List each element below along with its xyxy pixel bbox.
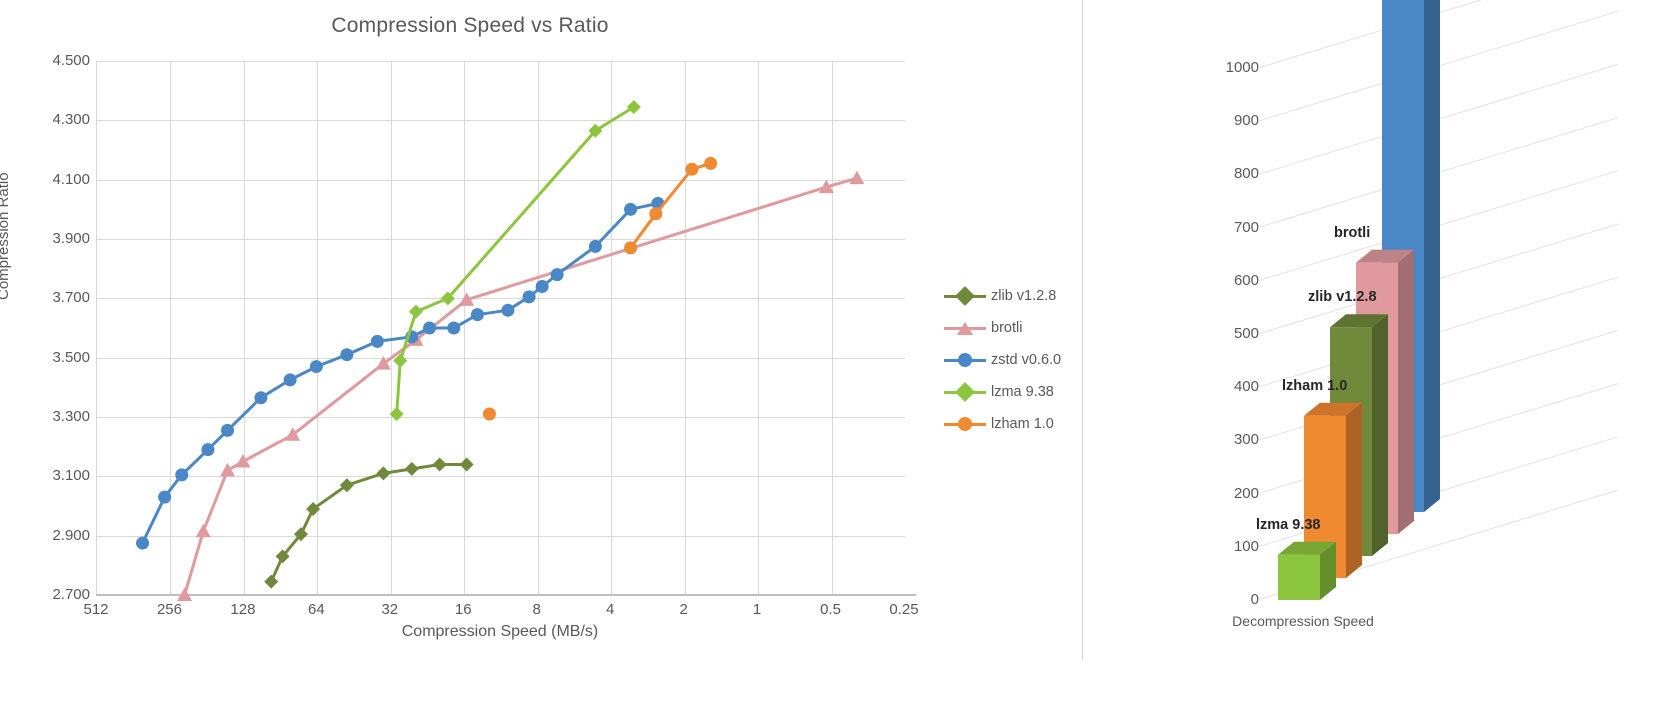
legend-item-label: lzham 1.0 [986,416,1054,432]
data-point-marker [310,360,323,373]
data-point-marker [433,457,447,471]
bar-lzma-9-38[interactable] [1278,542,1336,600]
data-point-marker [220,463,235,477]
x-tick-label: 4 [580,601,640,618]
x-tick-label: 0.5 [801,601,861,618]
data-point-marker [201,443,214,456]
y-tick-label: 3.900 [38,230,90,247]
legend-marker-icon [944,320,986,336]
bar-side-face [1398,250,1414,534]
x-tick-label: 32 [360,601,420,618]
x-axis-title: Compression Speed (MB/s) [96,623,904,641]
x-tick-label: 512 [66,601,126,618]
legend-item-zstd-v0-6-0[interactable]: zstd v0.6.0 [944,344,1074,376]
legend-item-label: zstd v0.6.0 [986,352,1061,368]
y-tick-label: 4.500 [38,52,90,69]
bar-data-label: brotli [1334,225,1370,241]
legend-item-lzma-9-38[interactable]: lzma 9.38 [944,376,1074,408]
data-point-marker [589,240,602,253]
data-point-marker [136,537,149,550]
legend-marker-icon [944,384,986,400]
data-point-marker [447,322,460,335]
bar-data-label: zlib v1.2.8 [1308,289,1377,305]
x-tick-label: 0.25 [874,601,934,618]
y-axis-tick-labels: 2.7002.9003.1003.3003.5003.7003.9004.100… [30,61,90,595]
data-point-marker [624,241,637,254]
data-point-marker [221,424,234,437]
legend-marker-icon [944,288,986,304]
bar-side-face [1372,314,1388,556]
data-point-marker [624,203,637,216]
legend-item-label: brotli [986,320,1022,336]
x-tick-label: 64 [286,601,346,618]
bar-front-face [1278,555,1320,600]
legend-item-zlib-v1-2-8[interactable]: zlib v1.2.8 [944,280,1074,312]
x-tick-label: 8 [507,601,567,618]
y-tick-label: 4.100 [38,171,90,188]
data-point-marker [235,454,250,468]
data-point-marker [175,468,188,481]
bar-category-label: Decompression Speed [1203,612,1403,630]
bar-side-face [1424,0,1440,512]
data-point-marker [471,308,484,321]
series-line-zlib-v1-2-8 [271,465,466,582]
x-tick-label: 128 [213,601,273,618]
data-point-marker [523,290,536,303]
data-point-marker [649,207,662,220]
bar-chart-graphics [1083,0,1670,705]
data-point-marker [405,462,419,476]
legend-item-lzham-1-0[interactable]: lzham 1.0 [944,408,1074,440]
data-point-marker [483,408,496,421]
legend-item-label: lzma 9.38 [986,384,1054,400]
x-tick-label: 256 [139,601,199,618]
bar-data-label: lzma 9.38 [1256,517,1321,533]
legend-item-brotli[interactable]: brotli [944,312,1074,344]
data-point-marker [409,305,423,319]
data-point-marker [551,268,564,281]
data-series-layer [96,61,904,595]
legend-marker-icon [944,352,986,368]
data-point-marker [704,157,717,170]
data-point-marker [254,391,267,404]
legend-marker-icon [944,416,986,432]
data-point-marker [849,171,864,185]
x-tick-label: 2 [654,601,714,618]
data-point-marker [423,322,436,335]
bar-side-face [1346,403,1362,578]
data-point-marker [177,588,192,602]
data-point-marker [196,524,211,538]
data-point-marker [158,491,171,504]
bar-data-label: lzham 1.0 [1282,378,1347,394]
data-point-marker [685,163,698,176]
series-line-brotli [185,178,857,595]
data-point-marker [390,407,404,421]
data-point-marker [340,348,353,361]
data-point-marker [460,457,474,471]
series-line-lzma-9-38 [397,107,634,414]
data-point-marker [501,304,514,317]
data-point-marker [627,100,641,114]
y-tick-label: 3.500 [38,349,90,366]
data-point-marker [371,335,384,348]
data-point-marker [536,280,549,293]
chart-title: Compression Speed vs Ratio [0,14,940,38]
bar-chart-area: 01002003004005006007008009001000 zstd v0… [1083,0,1670,705]
data-point-marker [376,466,390,480]
data-point-marker [264,575,278,589]
compression-scatter-chart-pane: Compression Speed vs Ratio Compression R… [0,0,1082,705]
y-tick-label: 3.700 [38,289,90,306]
x-tick-label: 16 [433,601,493,618]
data-point-marker [284,373,297,386]
y-tick-label: 2.900 [38,527,90,544]
x-axis-tick-labels: 51225612864321684210.50.25 [96,601,904,623]
y-tick-label: 3.300 [38,408,90,425]
decompression-bar-chart-pane: 01002003004005006007008009001000 zstd v0… [1083,0,1670,705]
y-tick-label: 4.300 [38,111,90,128]
x-tick-label: 1 [727,601,787,618]
chart-legend: zlib v1.2.8brotlizstd v0.6.0lzma 9.38lzh… [944,280,1074,440]
y-axis-title: Compression Ratio [0,172,12,300]
y-tick-label: 3.100 [38,467,90,484]
legend-item-label: zlib v1.2.8 [986,288,1056,304]
